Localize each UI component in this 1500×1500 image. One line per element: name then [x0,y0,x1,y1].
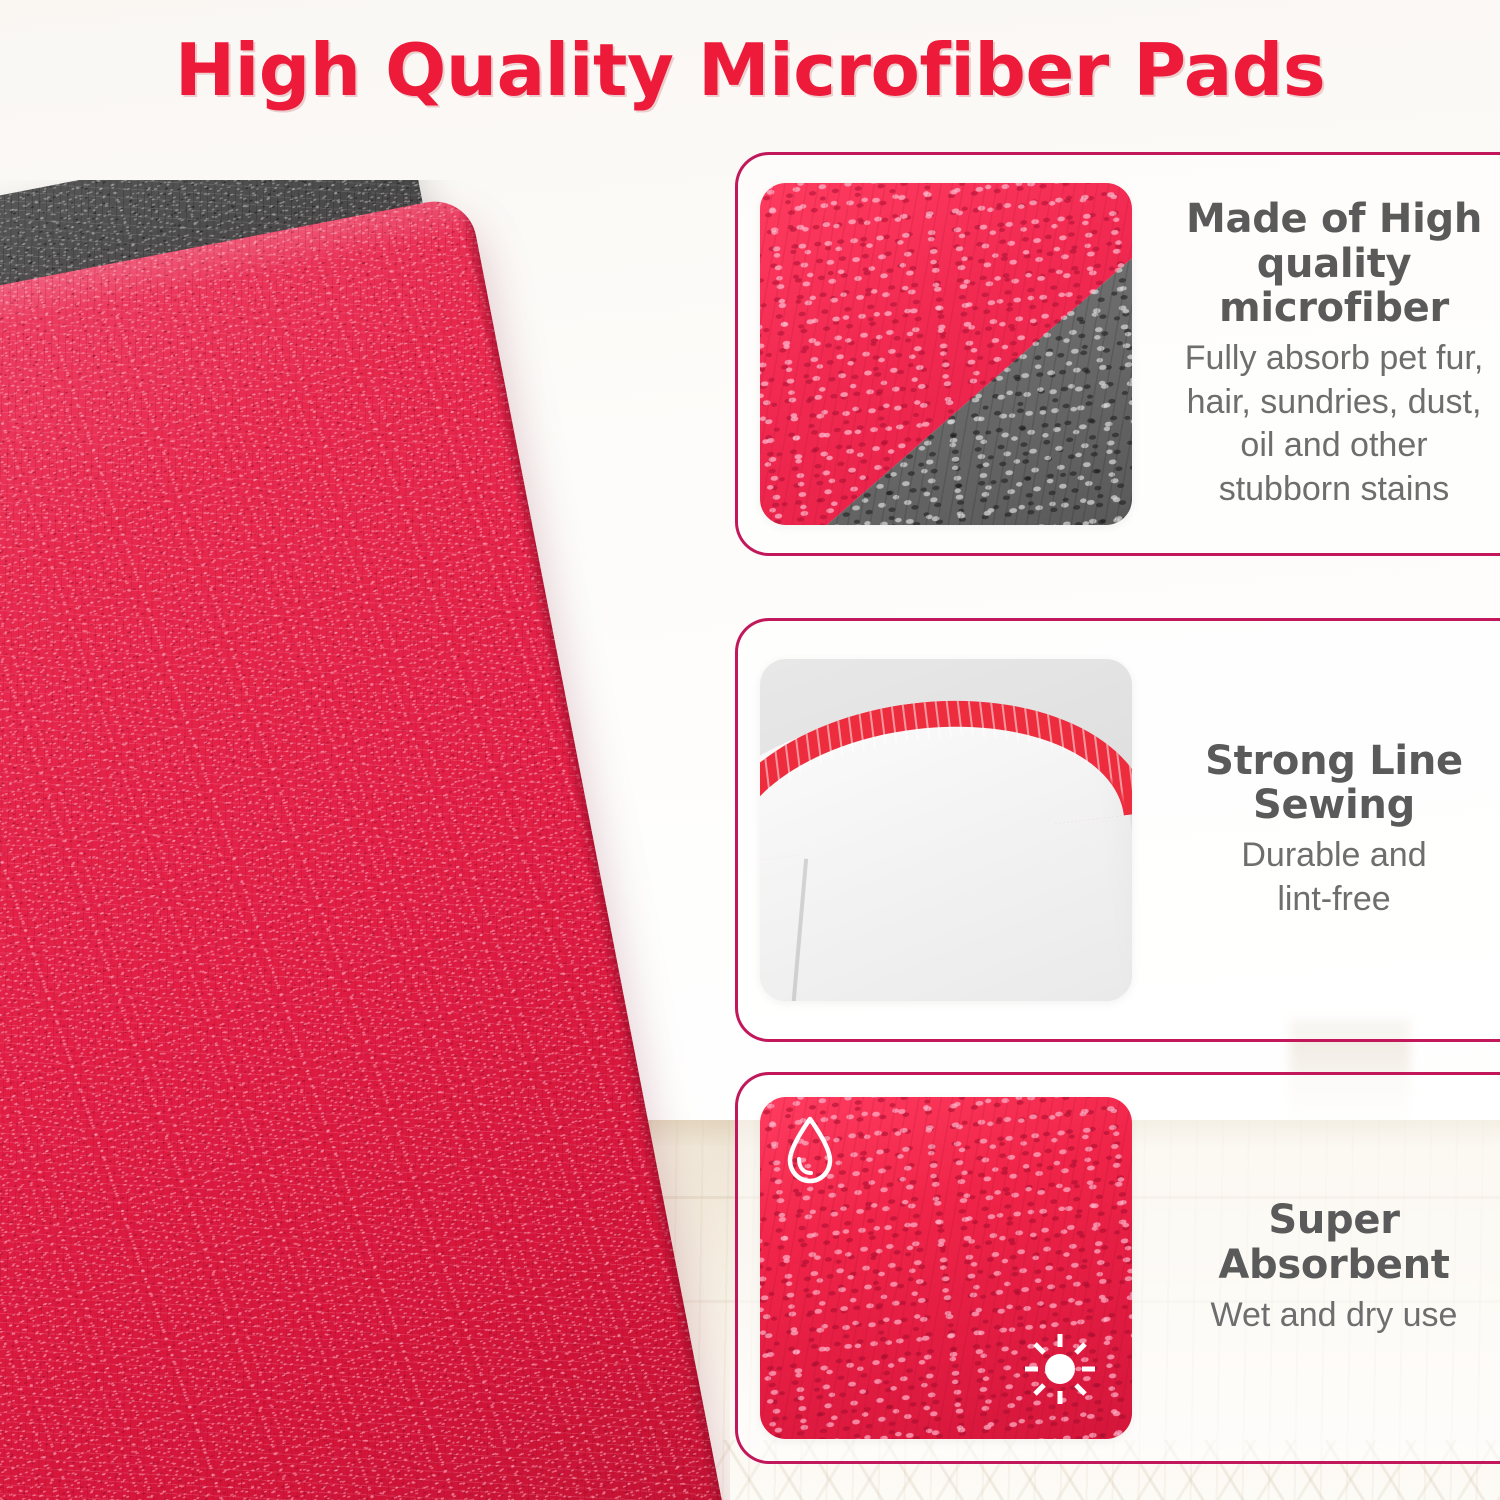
water-drop-icon [782,1115,838,1185]
feature-title: Strong Line Sewing [1174,739,1494,829]
feature-card-super-absorbent[interactable]: Super Absorbent Wet and dry use [735,1072,1500,1464]
feature-description: Fully absorb pet fur, hair, sundries, du… [1174,337,1494,511]
feature-text-block: Made of High quality microfiber Fully ab… [1132,197,1500,511]
feature-photo-fiber-closeup-red-grey-split [760,183,1132,525]
hero-product-photo [0,180,730,1500]
feature-card-made-of-high-quality-microfiber[interactable]: Made of High quality microfiber Fully ab… [735,152,1500,556]
feature-description: Wet and dry use [1174,1294,1494,1338]
feature-text-block: Super Absorbent Wet and dry use [1132,1198,1500,1337]
feature-title: Made of High quality microfiber [1174,197,1494,331]
feature-title: Super Absorbent [1174,1198,1494,1288]
feature-card-strong-line-sewing[interactable]: Strong Line Sewing Durable and lint-free [735,618,1500,1042]
feature-text-block: Strong Line Sewing Durable and lint-free [1132,739,1500,922]
feature-photo-pad-edge-stitching-closeup [760,659,1132,1001]
hero-red-pad [0,194,730,1500]
sun-icon [1022,1331,1098,1407]
red-pad-edge [456,194,730,1500]
feature-description: Durable and lint-free [1174,834,1494,921]
infographic-stage: High Quality Microfiber Pads Made of Hig… [0,0,1500,1500]
feature-photo-red-fiber-texture-closeup [760,1097,1132,1439]
page-title: High Quality Microfiber Pads [0,28,1500,112]
